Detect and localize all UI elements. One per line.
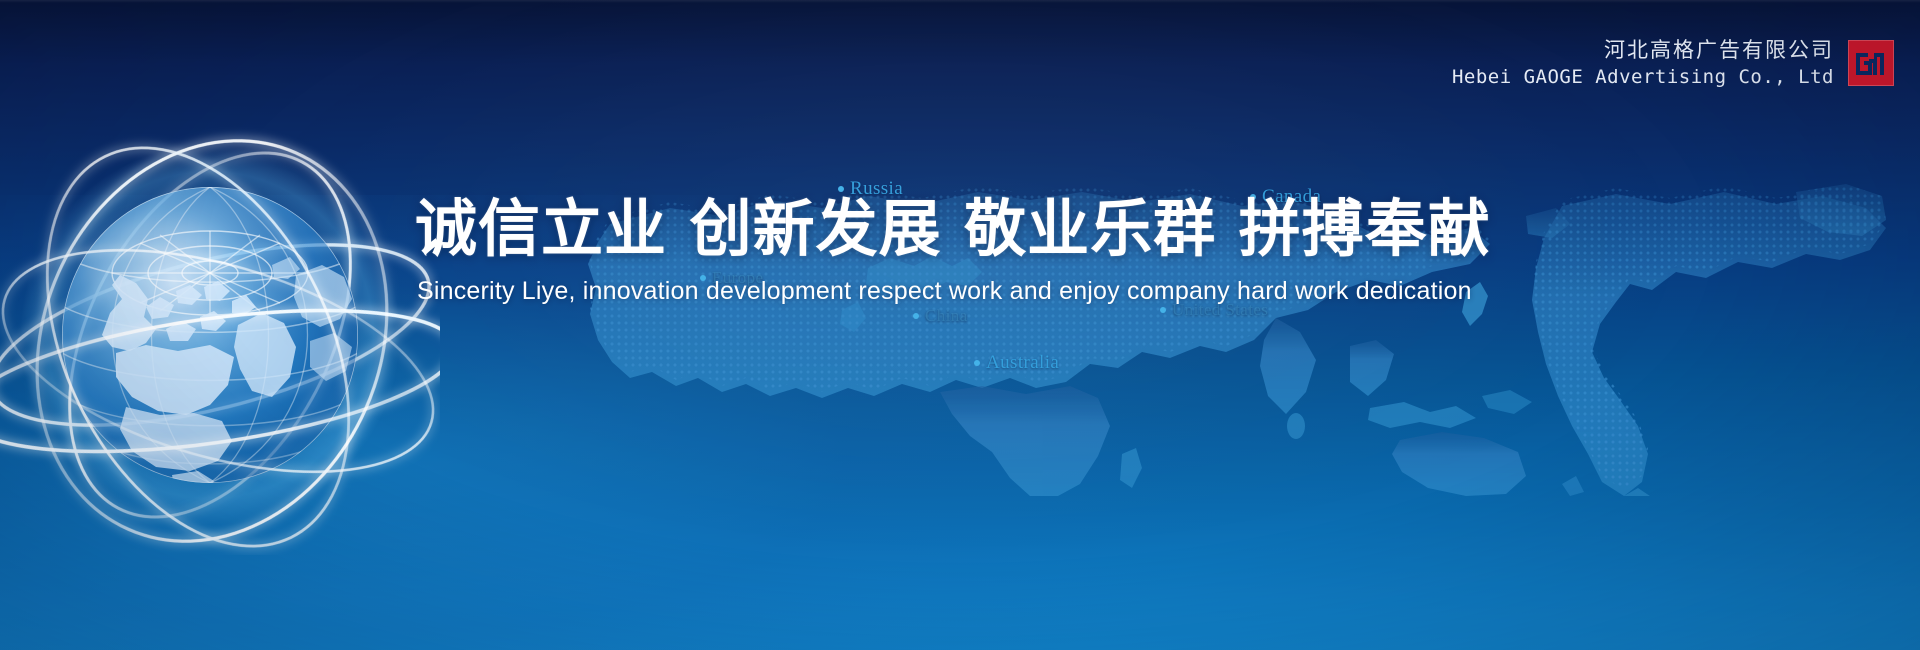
company-name-cn: 河北高格广告有限公司: [1452, 36, 1834, 64]
company-name-group: 河北高格广告有限公司 Hebei GAOGE Advertising Co., …: [1452, 36, 1834, 91]
slogan-block: 诚信立业 创新发展 敬业乐群 拼搏奉献 Sincerity Liye, inno…: [415, 196, 1515, 306]
map-label-china-text: China: [925, 306, 968, 325]
company-banner: Europe China United States Russia Canada…: [0, 0, 1920, 650]
map-marker-dot: [974, 360, 980, 366]
gaoge-square-logo: [1848, 40, 1894, 86]
company-name-en: Hebei GAOGE Advertising Co., Ltd: [1452, 64, 1834, 91]
map-label-china: China: [913, 306, 968, 326]
map-label-australia: Australia: [974, 352, 1059, 374]
company-identity: 河北高格广告有限公司 Hebei GAOGE Advertising Co., …: [1452, 36, 1894, 91]
slogan-headline-cn: 诚信立业 创新发展 敬业乐群 拼搏奉献: [415, 196, 1515, 263]
slogan-subhead-en: Sincerity Liye, innovation development r…: [417, 277, 1515, 306]
map-marker-dot: [1160, 307, 1166, 313]
map-label-australia-text: Australia: [986, 352, 1059, 373]
top-sheen: [0, 0, 1920, 3]
map-marker-dot: [913, 313, 919, 319]
orbiting-globe-illustration: [0, 85, 440, 555]
